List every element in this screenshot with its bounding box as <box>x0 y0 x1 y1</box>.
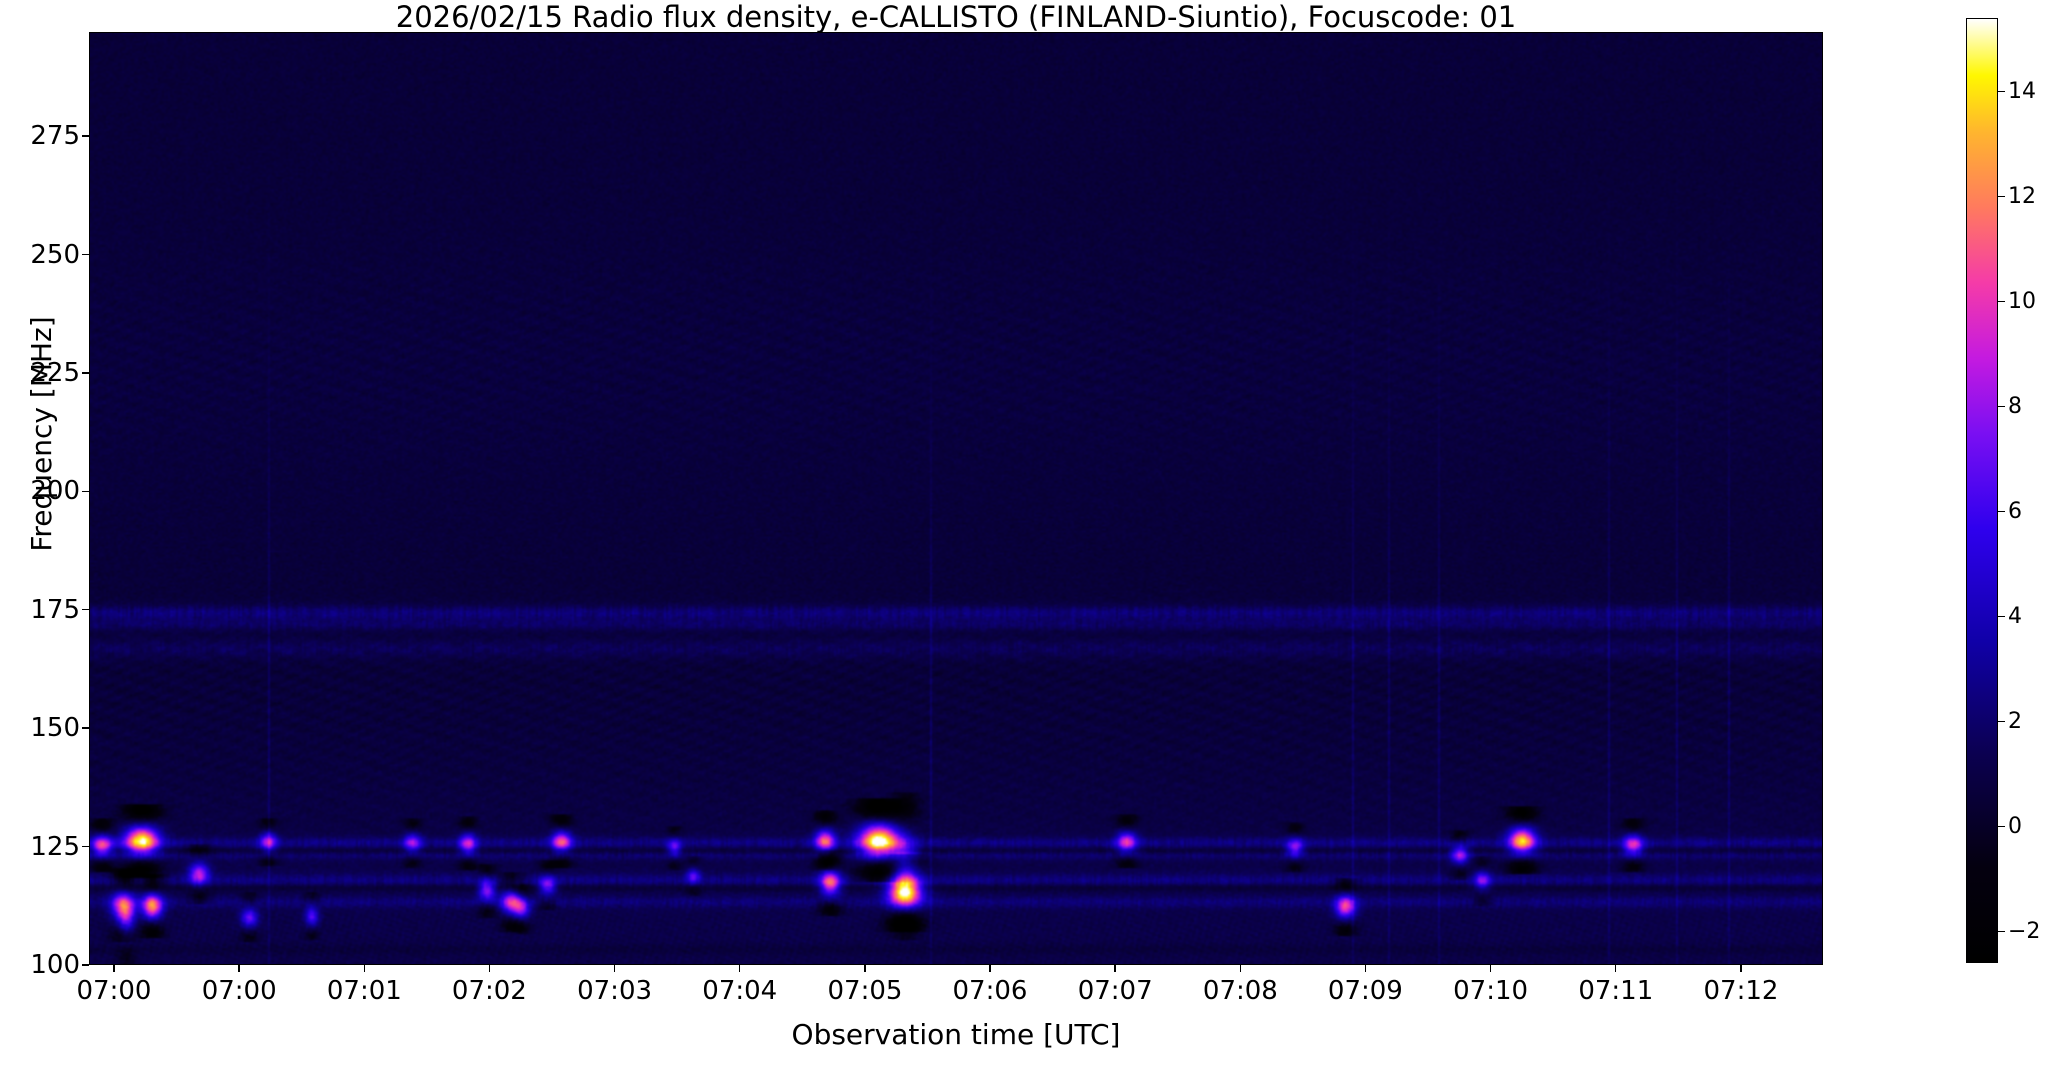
x-tick-label: 07:06 <box>920 977 1060 1005</box>
x-tick-label: 07:05 <box>795 977 935 1005</box>
y-tick-label: 150 <box>10 715 80 741</box>
colorbar-tick-label: 12 <box>2008 186 2036 208</box>
x-tick-mark <box>489 965 490 972</box>
y-tick-mark <box>82 491 89 492</box>
chart-title: 2026/02/15 Radio flux density, e-CALLIST… <box>89 2 1823 32</box>
x-tick-mark <box>1365 965 1366 972</box>
x-tick-mark <box>364 965 365 972</box>
colorbar-tick-label: 8 <box>2008 396 2022 418</box>
x-tick-mark <box>113 965 114 972</box>
x-tick-label: 07:04 <box>670 977 810 1005</box>
y-tick-label: 100 <box>10 952 80 978</box>
x-tick-label: 07:09 <box>1295 977 1435 1005</box>
y-tick-mark <box>82 964 89 965</box>
spectrogram-plot-area[interactable] <box>89 32 1823 965</box>
x-tick-mark <box>989 965 990 972</box>
colorbar-tick-label: 0 <box>2008 816 2022 838</box>
colorbar-tick-mark <box>1998 91 2005 92</box>
x-tick-mark <box>1615 965 1616 972</box>
spectrogram-image <box>90 33 1823 965</box>
colorbar-tick-label: −2 <box>2008 921 2040 943</box>
y-tick-mark <box>82 727 89 728</box>
x-tick-label: 07:08 <box>1170 977 1310 1005</box>
y-tick-mark <box>82 254 89 255</box>
colorbar[interactable] <box>1966 18 1998 963</box>
colorbar-tick-mark <box>1998 616 2005 617</box>
colorbar-tick-mark <box>1998 406 2005 407</box>
y-tick-mark <box>82 609 89 610</box>
colorbar-tick-label: 4 <box>2008 606 2022 628</box>
colorbar-tick-mark <box>1998 826 2005 827</box>
colorbar-tick-mark <box>1998 196 2005 197</box>
x-tick-label: 07:12 <box>1671 977 1811 1005</box>
colorbar-tick-mark <box>1998 511 2005 512</box>
colorbar-tick-label: 10 <box>2008 291 2036 313</box>
y-tick-label: 275 <box>10 123 80 149</box>
x-tick-mark <box>739 965 740 972</box>
y-tick-mark <box>82 372 89 373</box>
x-axis-label: Observation time [UTC] <box>89 1020 1823 1050</box>
colorbar-tick-mark <box>1998 301 2005 302</box>
x-tick-label: 07:11 <box>1546 977 1686 1005</box>
y-tick-mark <box>82 846 89 847</box>
y-tick-mark <box>82 135 89 136</box>
y-axis-label: Frequency [MHz] <box>28 224 56 644</box>
x-tick-label: 07:10 <box>1421 977 1561 1005</box>
x-tick-label: 07:01 <box>294 977 434 1005</box>
x-tick-label: 07:07 <box>1045 977 1185 1005</box>
colorbar-tick-label: 14 <box>2008 81 2036 103</box>
y-tick-label: 125 <box>10 834 80 860</box>
colorbar-gradient <box>1967 19 1997 962</box>
x-tick-label: 07:00 <box>169 977 309 1005</box>
x-tick-label: 07:03 <box>545 977 685 1005</box>
colorbar-tick-label: 2 <box>2008 711 2022 733</box>
x-tick-mark <box>1114 965 1115 972</box>
x-tick-mark <box>1740 965 1741 972</box>
x-tick-mark <box>1490 965 1491 972</box>
x-tick-mark <box>1240 965 1241 972</box>
x-tick-mark <box>238 965 239 972</box>
colorbar-tick-mark <box>1998 931 2005 932</box>
x-tick-label: 07:02 <box>419 977 559 1005</box>
x-tick-mark <box>614 965 615 972</box>
colorbar-tick-mark <box>1998 721 2005 722</box>
colorbar-tick-label: 6 <box>2008 501 2022 523</box>
x-tick-mark <box>864 965 865 972</box>
x-tick-label: 07:00 <box>44 977 184 1005</box>
